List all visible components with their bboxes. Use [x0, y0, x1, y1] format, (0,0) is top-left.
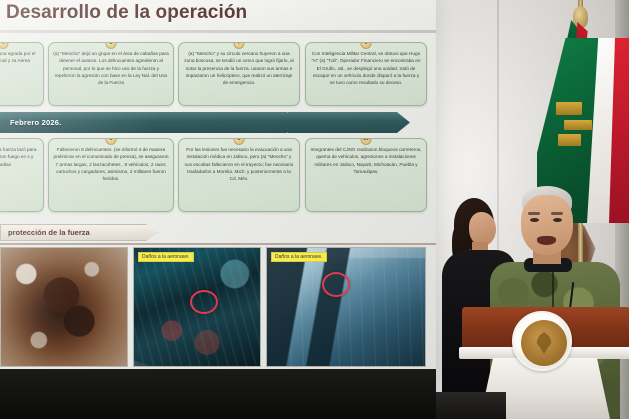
card-number-badge: 8: [234, 138, 245, 145]
slide-title: Desarrollo de la operación: [6, 2, 247, 24]
damage-highlight-circle-icon: [322, 272, 350, 297]
photo-caption: Daños a la aeronave.: [138, 252, 194, 262]
card-text: (a) "Mencho" dejó un grupo en el área de…: [53, 50, 169, 86]
photo-strip: Daños a la aeronave. Daños a la aeronave…: [0, 247, 436, 369]
card-number-badge: 9: [361, 42, 372, 49]
card-text: Integrantes del CJNG realizaron bloqueos…: [310, 146, 422, 175]
card-text: (a) "Mencho" y su círculo cercano huyero…: [183, 50, 295, 86]
banner-divider: [0, 243, 436, 245]
section-banner-label: protección de la fuerza: [8, 228, 90, 237]
title-divider: [0, 30, 436, 33]
card-number-badge: 7: [234, 42, 245, 49]
timeline-band-label: Febrero 2026.: [10, 118, 61, 127]
timeline-band-right: [288, 112, 410, 133]
photo-fuselage-damage: Daños a la aeronave.: [266, 247, 426, 367]
flow-card: 4 para la anizó una egrada por el Ejérci…: [0, 42, 44, 106]
flagpole-finial-icon: [573, 6, 588, 28]
photo-aerial-cabins: [0, 247, 128, 367]
card-number-badge: 4: [0, 42, 9, 49]
timeline-band-left: Febrero 2026.: [0, 112, 300, 133]
eye-left: [530, 218, 539, 222]
card-text: para la anizó una egrada por el Ejército…: [0, 50, 39, 65]
card-text: Con Inteligencia Militar Central, se obt…: [310, 50, 422, 86]
card-number-badge: 10: [361, 138, 372, 145]
eyebrow-right: [551, 212, 563, 215]
photo-cockpit-damage: Daños a la aeronave.: [133, 247, 261, 367]
flow-card: 6 Fallecieron 8 delincuentes. (se inform…: [48, 138, 174, 212]
photo-caption: Daños a la aeronave.: [271, 252, 327, 262]
flow-row-lower: roboró la cho" la fuerza lazó para prese…: [0, 138, 436, 228]
flow-card: 9 Con Inteligencia Militar Central, se o…: [305, 42, 427, 106]
card-text: roboró la cho" la fuerza lazó para prese…: [0, 146, 39, 168]
national-seal-icon: [512, 311, 572, 371]
table-edge: [436, 392, 506, 419]
flag-embroidery: [556, 102, 582, 115]
flow-card: roboró la cho" la fuerza lazó para prese…: [0, 138, 44, 212]
flow-row-upper: 4 para la anizó una egrada por el Ejérci…: [0, 36, 436, 108]
seal-eagle-icon: [535, 332, 553, 354]
photo-image: [267, 248, 425, 366]
section-banner: protección de la fuerza: [0, 224, 158, 241]
flag-embroidery: [558, 134, 581, 146]
card-text: Fallecieron 8 delincuentes. (se informó …: [53, 146, 169, 182]
flow-card: 8 Por las lesiones fue necesario la evac…: [178, 138, 300, 212]
projected-slide: Desarrollo de la operación 4 para la ani…: [0, 0, 436, 378]
card-text: Por las lesiones fue necesario la evacua…: [183, 146, 295, 182]
flag-embroidery: [564, 120, 592, 130]
face: [521, 195, 573, 255]
damage-highlight-circle-icon: [190, 290, 218, 314]
photo-image: [1, 248, 127, 366]
flow-card: 7 (a) "Mencho" y su círculo cercano huye…: [178, 42, 300, 106]
eye-right: [553, 218, 562, 222]
foreground-shadow: [0, 369, 436, 419]
card-number-badge: 6: [106, 138, 117, 145]
flow-card: 10 Integrantes del CJNG realizaron bloqu…: [305, 138, 427, 212]
press-conference-room: Desarrollo de la operación 4 para la ani…: [0, 0, 629, 419]
eyebrow-left: [528, 212, 540, 215]
seal-inner-ring: [521, 320, 567, 366]
flow-card: 5 (a) "Mencho" dejó un grupo en el área …: [48, 42, 174, 106]
mouth: [537, 236, 556, 245]
card-number-badge: 5: [106, 42, 117, 49]
